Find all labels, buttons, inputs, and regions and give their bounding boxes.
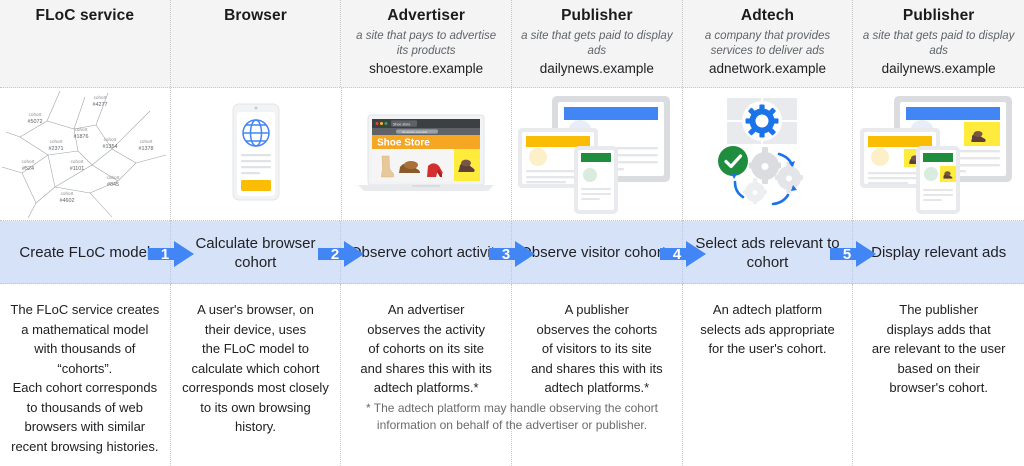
step-arrow-3: 3 [489,241,535,267]
floc-flow-diagram: FLoC service Browser Advertiser a site t… [0,0,1024,450]
illustration-cell-adtech [683,88,854,221]
column-header-adtech: Adtech a company that provides services … [683,0,854,87]
column-header-advertiser: Advertiser a site that pays to advertise… [341,0,512,87]
description-cell-advertiser: An advertiser observes the activity of c… [341,284,512,466]
column-header-publisher-display: Publisher a site that gets paid to displ… [853,0,1024,87]
illustration-cell-browser [171,88,342,221]
column-subtitle: a site that gets paid to display ads [520,29,674,58]
svg-text:#1876: #1876 [74,134,89,140]
footnote-adtech-platform: * The adtech platform may handle observi… [341,400,683,434]
column-title: Publisher [861,6,1016,26]
svg-text:#524: #524 [22,166,34,172]
column-domain: adnetwork.example [691,60,845,77]
svg-text:#1101: #1101 [70,166,85,172]
header-row: FLoC service Browser Advertiser a site t… [0,0,1024,88]
column-title: FLoC service [8,6,162,26]
svg-text:cohort: cohort [61,191,74,196]
svg-text:#4277: #4277 [93,102,108,108]
svg-text:cohort: cohort [104,137,117,142]
description-text: A user's browser, on their device, uses … [181,300,331,437]
step-create-floc-model[interactable]: Create FLoC model [0,221,171,284]
step-calculate-browser-cohort[interactable]: Calculate browser cohort [171,221,342,284]
description-cell-publisher-display: The publisher displays adds that are rel… [853,284,1024,466]
column-domain: dailynews.example [520,60,674,77]
column-subtitle: a company that provides services to deli… [691,29,845,58]
svg-text:cohort: cohort [29,112,42,117]
svg-text:#2371: #2371 [49,146,64,152]
svg-text:cohort: cohort [94,95,107,100]
cohort-label-group: cohort#5072 cohort #4277 cohort#1876 coh… [22,95,154,204]
step-arrow-1: 1 [148,241,194,267]
step-display-relevant-ads[interactable]: Display relevant ads [853,221,1024,284]
svg-text:cohort: cohort [107,175,120,180]
check-circle-icon [718,146,748,176]
description-cell-adtech: An adtech platform selects ads appropria… [683,284,854,466]
svg-text:cohort: cohort [140,139,153,144]
step-observe-visitor-cohorts[interactable]: Observe visitor cohorts [512,221,683,284]
illustration-row: cohort#5072 cohort #4277 cohort#1876 coh… [0,88,1024,221]
devices-news-site-with-ads-icon [853,88,1024,221]
phone-with-globe-icon [171,88,341,221]
step-arrow-number: 3 [489,241,535,267]
devices-news-site-icon [512,88,682,221]
step-arrow-2: 2 [318,241,364,267]
column-domain: shoestore.example [349,60,503,77]
laptop-shoe-store-icon: Shoe store shoestore.example Shoe Store [342,88,512,221]
column-title: Advertiser [349,6,503,26]
step-observe-cohort-activity[interactable]: Observe cohort activity [341,221,512,284]
svg-text:shoestore.example: shoestore.example [402,129,428,133]
column-header-publisher: Publisher a site that gets paid to displ… [512,0,683,87]
step-label: Create FLoC model [13,243,156,262]
step-label: Display relevant ads [865,243,1012,262]
illustration-cell-floc-service: cohort#5072 cohort #4277 cohort#1876 coh… [0,88,171,221]
step-select-ads[interactable]: Select ads relevant to cohort [683,221,854,284]
description-text: An advertiser observes the activity of c… [351,300,501,398]
shoe-store-title: Shoe Store [377,137,430,148]
description-text: The publisher displays adds that are rel… [863,300,1014,398]
column-header-browser: Browser [171,0,342,87]
column-domain: dailynews.example [861,60,1016,77]
description-text: The FLoC service creates a mathematical … [10,300,160,456]
svg-text:Shoe store: Shoe store [393,122,410,126]
description-cell-browser: A user's browser, on their device, uses … [171,284,342,466]
column-subtitle: a site that gets paid to display ads [861,29,1016,58]
step-arrow-number: 5 [830,241,876,267]
illustration-cell-publisher-display [853,88,1024,221]
svg-text:cohort: cohort [22,159,35,164]
column-title: Publisher [520,6,674,26]
svg-text:#1354: #1354 [103,144,118,150]
column-title: Adtech [691,6,845,26]
description-text: An adtech platform selects ads appropria… [693,300,843,359]
svg-text:#845: #845 [107,182,119,188]
svg-text:#1378: #1378 [139,146,154,152]
gears-with-checkmark-icon [683,88,853,221]
step-label: Observe visitor cohorts [514,243,679,262]
illustration-cell-publisher [512,88,683,221]
description-cell-publisher: A publisher observes the cohorts of visi… [512,284,683,466]
step-arrow-4: 4 [660,241,706,267]
step-arrow-number: 2 [318,241,364,267]
svg-text:cohort: cohort [71,159,84,164]
svg-text:cohort: cohort [50,139,63,144]
step-label: Observe cohort activity [344,243,509,262]
step-label: Calculate browser cohort [171,234,341,272]
column-title: Browser [179,6,333,26]
step-arrow-number: 1 [148,241,194,267]
svg-text:#4602: #4602 [60,198,75,204]
floc-voronoi-cohort-map-icon: cohort#5072 cohort #4277 cohort#1876 coh… [0,88,170,221]
step-label: Select ads relevant to cohort [683,234,853,272]
column-subtitle: a site that pays to advertise its produc… [349,29,503,58]
description-text: A publisher observes the cohorts of visi… [522,300,672,398]
svg-text:#5072: #5072 [28,119,43,125]
svg-text:cohort: cohort [75,127,88,132]
illustration-cell-advertiser: Shoe store shoestore.example Shoe Store [342,88,513,221]
description-cell-floc-service: The FLoC service creates a mathematical … [0,284,171,466]
step-arrow-number: 4 [660,241,706,267]
column-header-floc-service: FLoC service [0,0,171,87]
step-arrow-5: 5 [830,241,876,267]
